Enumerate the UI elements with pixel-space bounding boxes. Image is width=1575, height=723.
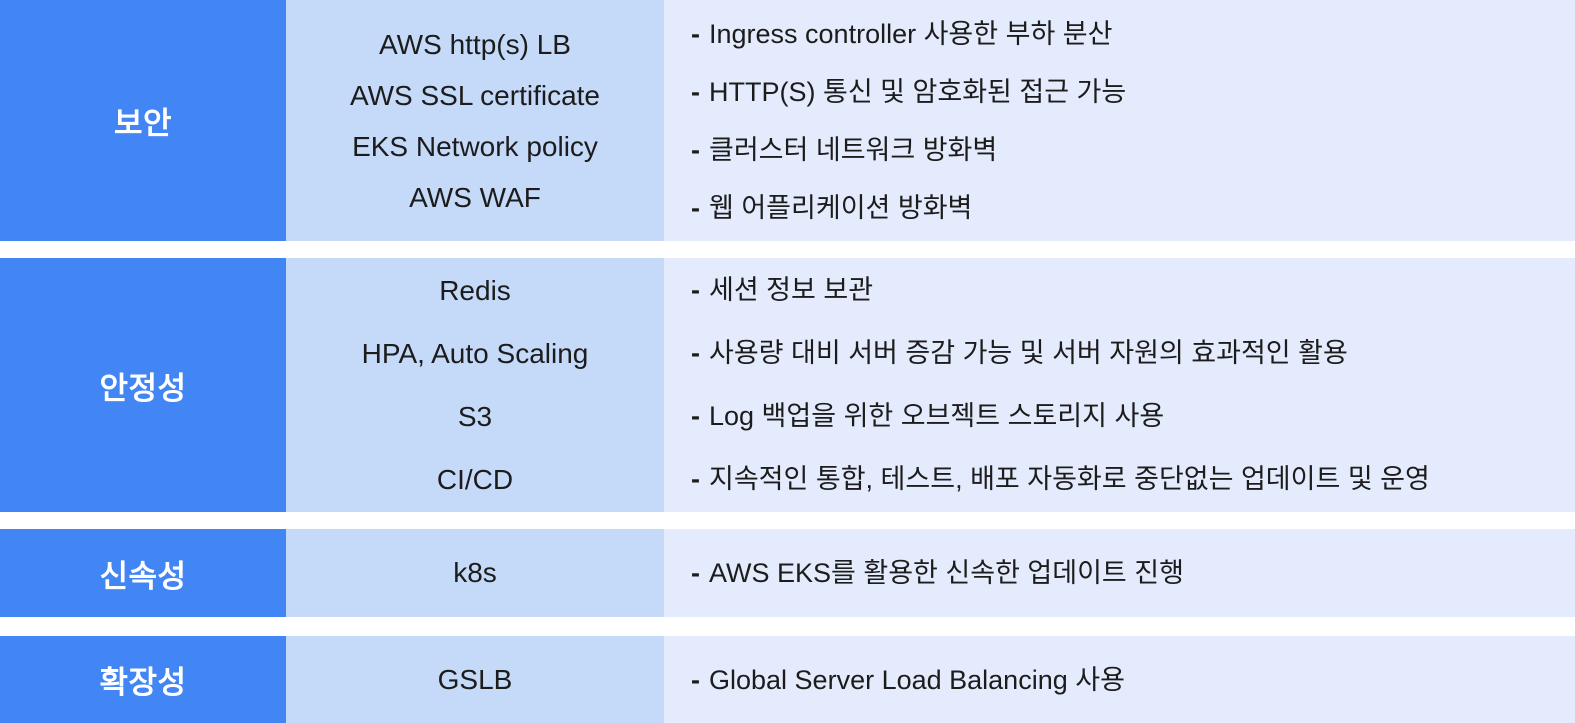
row-divider bbox=[0, 617, 1575, 636]
row-technology-list: GSLB bbox=[286, 636, 664, 723]
technology-item: AWS SSL certificate bbox=[350, 70, 600, 121]
technology-item: CI/CD bbox=[437, 448, 513, 511]
technology-item: k8s bbox=[453, 553, 497, 593]
bullet-dash-icon: - bbox=[691, 385, 700, 448]
category-text: 신속성 bbox=[99, 551, 186, 596]
description-item: - 사용량 대비 서버 증감 가능 및 서버 자원의 효과적인 활용 bbox=[691, 322, 1575, 385]
bullet-dash-icon: - bbox=[691, 660, 700, 700]
description-item: - 세션 정보 보관 bbox=[691, 259, 1575, 322]
bullet-dash-icon: - bbox=[691, 63, 700, 121]
description-item: - Ingress controller 사용한 부하 분산 bbox=[691, 5, 1575, 63]
description-text: 웹 어플리케이션 방화벽 bbox=[709, 179, 972, 237]
row-technology-list: Redis HPA, Auto Scaling S3 CI/CD bbox=[286, 258, 664, 512]
table-row: 보안 AWS http(s) LB AWS SSL certificate EK… bbox=[0, 0, 1575, 241]
category-text: 안정성 bbox=[99, 363, 186, 408]
description-item: - AWS EKS를 활용한 신속한 업데이트 진행 bbox=[691, 553, 1575, 593]
row-category-label: 신속성 bbox=[0, 529, 286, 617]
row-technology-list: k8s bbox=[286, 529, 664, 617]
bullet-dash-icon: - bbox=[691, 553, 700, 593]
technology-item: EKS Network policy bbox=[352, 121, 598, 172]
bullet-dash-icon: - bbox=[691, 259, 700, 322]
row-category-label: 보안 bbox=[0, 0, 286, 241]
description-text: Log 백업을 위한 오브젝트 스토리지 사용 bbox=[709, 385, 1164, 448]
description-text: HTTP(S) 통신 및 암호화된 접근 가능 bbox=[709, 63, 1126, 121]
technology-item: HPA, Auto Scaling bbox=[362, 322, 589, 385]
description-text: Global Server Load Balancing 사용 bbox=[709, 660, 1125, 700]
description-text: AWS EKS를 활용한 신속한 업데이트 진행 bbox=[709, 553, 1184, 593]
description-text: 지속적인 통합, 테스트, 배포 자동화로 중단없는 업데이트 및 운영 bbox=[709, 448, 1430, 511]
description-item: - Global Server Load Balancing 사용 bbox=[691, 660, 1575, 700]
requirements-table: 보안 AWS http(s) LB AWS SSL certificate EK… bbox=[0, 0, 1575, 723]
description-item: - 클러스터 네트워크 방화벽 bbox=[691, 121, 1575, 179]
bullet-dash-icon: - bbox=[691, 448, 700, 511]
bullet-dash-icon: - bbox=[691, 179, 700, 237]
technology-item: S3 bbox=[458, 385, 492, 448]
bullet-dash-icon: - bbox=[691, 322, 700, 385]
row-divider bbox=[0, 241, 1575, 258]
description-item: - 웹 어플리케이션 방화벽 bbox=[691, 179, 1575, 237]
technology-item: AWS WAF bbox=[409, 172, 541, 223]
description-item: - HTTP(S) 통신 및 암호화된 접근 가능 bbox=[691, 63, 1575, 121]
description-item: - 지속적인 통합, 테스트, 배포 자동화로 중단없는 업데이트 및 운영 bbox=[691, 448, 1575, 511]
description-text: 클러스터 네트워크 방화벽 bbox=[709, 121, 997, 179]
description-text: 사용량 대비 서버 증감 가능 및 서버 자원의 효과적인 활용 bbox=[709, 322, 1348, 385]
row-description-list: - AWS EKS를 활용한 신속한 업데이트 진행 bbox=[664, 529, 1575, 617]
technology-item: Redis bbox=[439, 259, 511, 322]
bullet-dash-icon: - bbox=[691, 5, 700, 63]
row-description-list: - Ingress controller 사용한 부하 분산 - HTTP(S)… bbox=[664, 0, 1575, 241]
row-category-label: 안정성 bbox=[0, 258, 286, 512]
row-category-label: 확장성 bbox=[0, 636, 286, 723]
description-text: 세션 정보 보관 bbox=[709, 259, 873, 322]
category-text: 확장성 bbox=[99, 657, 186, 702]
description-text: Ingress controller 사용한 부하 분산 bbox=[709, 5, 1112, 63]
table-row: 안정성 Redis HPA, Auto Scaling S3 CI/CD - 세… bbox=[0, 258, 1575, 512]
row-description-list: - Global Server Load Balancing 사용 bbox=[664, 636, 1575, 723]
bullet-dash-icon: - bbox=[691, 121, 700, 179]
technology-item: AWS http(s) LB bbox=[379, 19, 571, 70]
row-technology-list: AWS http(s) LB AWS SSL certificate EKS N… bbox=[286, 0, 664, 241]
category-text: 보안 bbox=[114, 98, 172, 143]
table-row: 확장성 GSLB - Global Server Load Balancing … bbox=[0, 636, 1575, 723]
description-item: - Log 백업을 위한 오브젝트 스토리지 사용 bbox=[691, 385, 1575, 448]
row-description-list: - 세션 정보 보관 - 사용량 대비 서버 증감 가능 및 서버 자원의 효과… bbox=[664, 258, 1575, 512]
row-divider bbox=[0, 512, 1575, 529]
table-row: 신속성 k8s - AWS EKS를 활용한 신속한 업데이트 진행 bbox=[0, 529, 1575, 617]
technology-item: GSLB bbox=[438, 660, 513, 700]
